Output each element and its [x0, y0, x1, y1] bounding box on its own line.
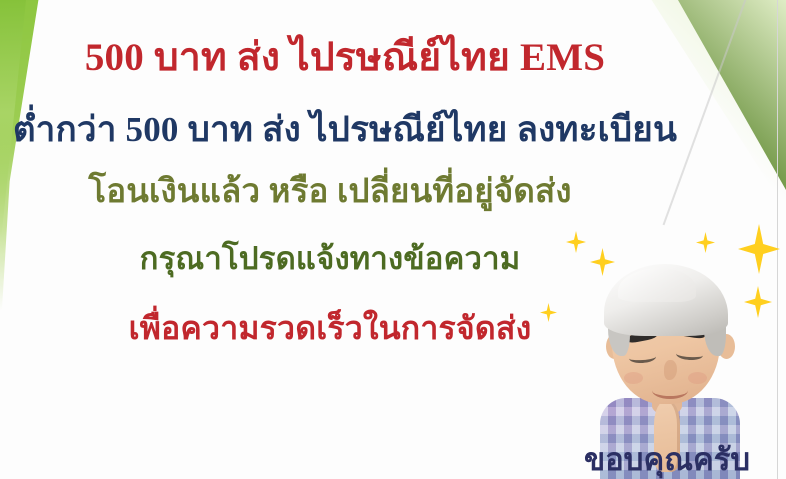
message-line-2: ต่ำกว่า 500 บาท ส่ง ไปรษณีย์ไทย ลงทะเบีย… [0, 112, 690, 147]
message-line-3: โอนเงินแล้ว หรือ เปลี่ยนที่อยู่จัดส่ง [0, 176, 660, 209]
avatar-smile [652, 382, 688, 399]
message-line-4: กรุณาโปรดแจ้งทางข้อความ [0, 243, 660, 274]
message-line-1: 500 บาท ส่ง ไปรษณีย์ไทย EMS [0, 38, 690, 77]
message-line-5: เพื่อความรวดเร็วในการจัดส่ง [0, 312, 660, 344]
promotional-poster: 500 บาท ส่ง ไปรษณีย์ไทย EMS ต่ำกว่า 500 … [0, 0, 786, 479]
thank-you-avatar: ขอบคุณครับ [580, 248, 755, 479]
avatar-cheek-right [688, 372, 707, 384]
right-edge-divider [777, 0, 778, 479]
thank-you-caption: ขอบคุณครับ [577, 434, 757, 479]
avatar-cheek-left [624, 372, 643, 384]
